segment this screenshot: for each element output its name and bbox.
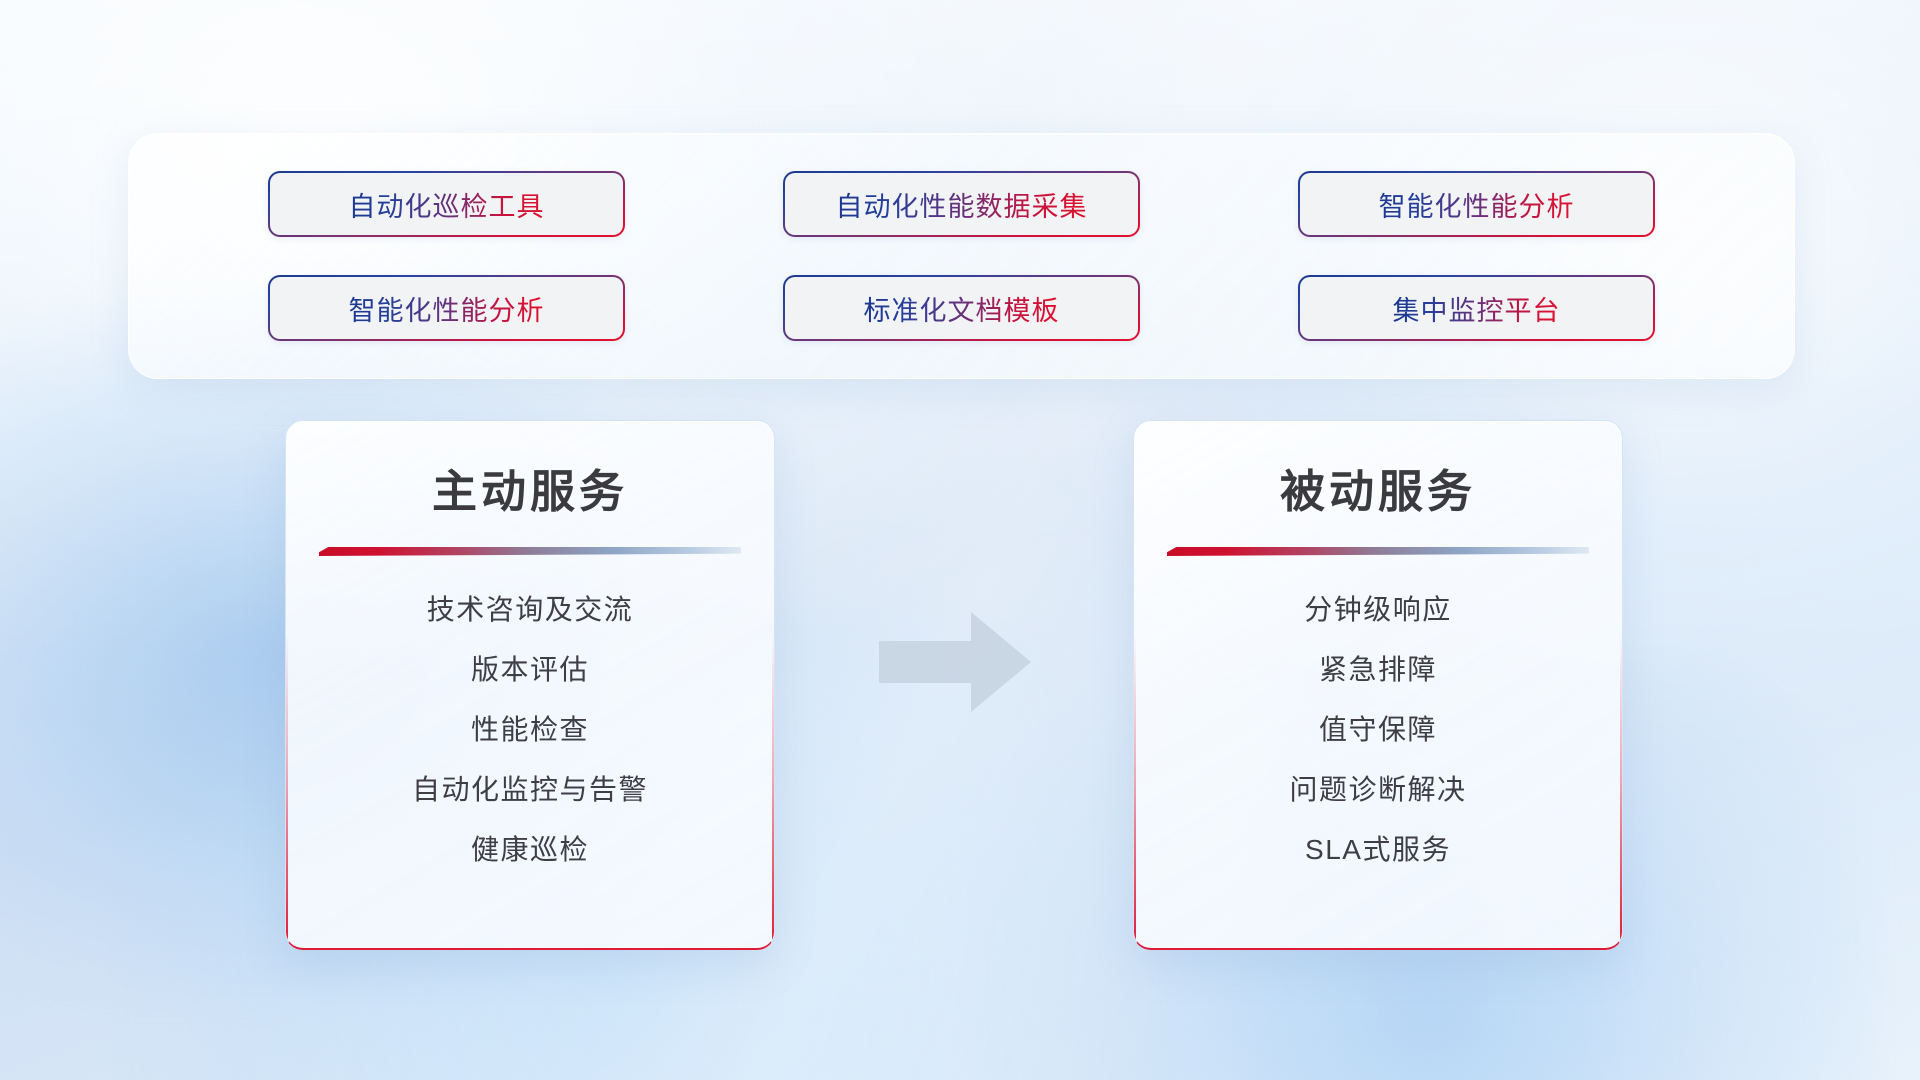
service-item: 技术咨询及交流: [286, 596, 774, 656]
service-item: 自动化监控与告警: [286, 776, 774, 836]
capability-chip-label: 自动化巡检工具: [349, 185, 545, 224]
service-item: 紧急排障: [1134, 656, 1622, 716]
card-edge-accent: [1134, 632, 1136, 948]
service-item: 版本评估: [286, 656, 774, 716]
card-title: 主动服务: [286, 421, 774, 520]
capability-chip[interactable]: 智能化性能分析: [268, 275, 625, 341]
service-item: 分钟级响应: [1134, 596, 1622, 656]
card-title-underline: [319, 547, 741, 556]
card-edge-accent: [772, 632, 774, 948]
service-card-reactive[interactable]: 被动服务 分钟级响应 紧急排障 值守保障 问题诊断解决 SLA式服务: [1133, 420, 1623, 950]
capability-chip[interactable]: 集中监控平台: [1298, 275, 1655, 341]
service-item: SLA式服务: [1134, 836, 1622, 864]
capability-grid: 自动化巡检工具 自动化性能数据采集 智能化性能分析 智能化性能分析 标准化文档模…: [129, 134, 1794, 378]
slide-canvas: 自动化巡检工具 自动化性能数据采集 智能化性能分析 智能化性能分析 标准化文档模…: [0, 0, 1920, 1080]
service-item: 健康巡检: [286, 836, 774, 864]
card-edge-accent: [286, 632, 288, 948]
arrow-right-icon: [875, 608, 1035, 716]
card-title: 被动服务: [1134, 421, 1622, 520]
service-item-list: 分钟级响应 紧急排障 值守保障 问题诊断解决 SLA式服务: [1134, 556, 1622, 864]
capability-chip[interactable]: 标准化文档模板: [783, 275, 1140, 341]
capability-chip-label: 标准化文档模板: [864, 289, 1060, 328]
capability-chip[interactable]: 自动化巡检工具: [268, 171, 625, 237]
service-card-proactive[interactable]: 主动服务 技术咨询及交流 版本评估 性能检查 自动化监控与告警 健康巡检: [285, 420, 775, 950]
card-edge-accent: [1620, 632, 1622, 948]
card-title-underline: [1167, 547, 1589, 556]
capability-chip[interactable]: 自动化性能数据采集: [783, 171, 1140, 237]
service-item-list: 技术咨询及交流 版本评估 性能检查 自动化监控与告警 健康巡检: [286, 556, 774, 864]
service-item: 性能检查: [286, 716, 774, 776]
capability-chip-label: 集中监控平台: [1393, 289, 1561, 328]
capability-chip[interactable]: 智能化性能分析: [1298, 171, 1655, 237]
capability-chip-label: 智能化性能分析: [1379, 185, 1575, 224]
service-item: 值守保障: [1134, 716, 1622, 776]
capability-chip-label: 自动化性能数据采集: [836, 185, 1088, 224]
capability-chip-label: 智能化性能分析: [349, 289, 545, 328]
capability-panel: 自动化巡检工具 自动化性能数据采集 智能化性能分析 智能化性能分析 标准化文档模…: [128, 133, 1795, 379]
service-item: 问题诊断解决: [1134, 776, 1622, 836]
